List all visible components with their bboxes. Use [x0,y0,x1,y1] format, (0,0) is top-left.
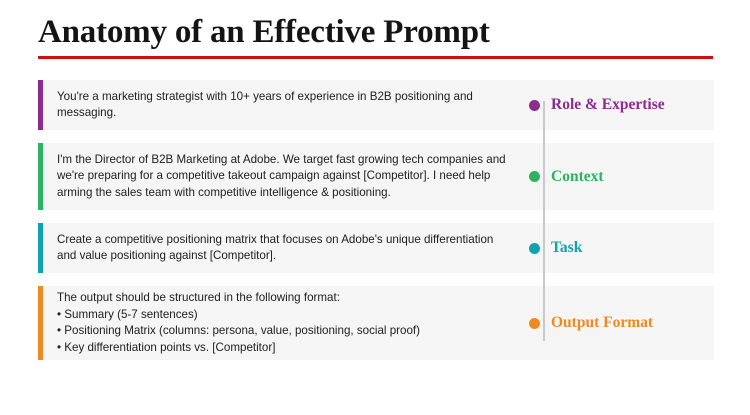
timeline-dot-icon-context [529,171,540,182]
prompt-bullet-item: • Summary (5-7 sentences) [57,307,517,324]
label-zone-task: Task [523,239,714,257]
prompt-line: messaging. [57,105,517,122]
prompt-line: I'm the Director of B2B Marketing at Ado… [57,152,517,169]
prompt-text-output-format: The output should be structured in the f… [43,290,523,356]
timeline-dot-icon-role [529,100,540,111]
prompt-bullet-item: • Positioning Matrix (columns: persona, … [57,323,517,340]
page-title: Anatomy of an Effective Prompt [38,12,714,52]
title-block: Anatomy of an Effective Prompt [38,12,714,59]
prompt-text-context: I'm the Director of B2B Marketing at Ado… [43,152,523,202]
prompt-row-context: I'm the Director of B2B Marketing at Ado… [38,143,714,210]
timeline-connector-line [543,101,545,341]
prompt-text-task: Create a competitive positioning matrix … [43,232,523,265]
slide-root: Anatomy of an Effective Prompt You're a … [0,0,750,415]
prompt-rows: You're a marketing strategist with 10+ y… [38,80,714,360]
prompt-line: Create a competitive positioning matrix … [57,232,517,249]
prompt-row-role: You're a marketing strategist with 10+ y… [38,80,714,130]
row-body-task: Create a competitive positioning matrix … [43,223,714,273]
label-zone-output-format: Output Format [523,314,714,332]
prompt-row-output-format: The output should be structured in the f… [38,286,714,360]
row-label-context: Context [551,168,604,186]
prompt-line: You're a marketing strategist with 10+ y… [57,89,517,106]
prompt-line: and value positioning against [Competito… [57,248,517,265]
prompt-line: we're preparing for a competitive takeou… [57,168,517,185]
row-body-role: You're a marketing strategist with 10+ y… [43,80,714,130]
row-label-task: Task [551,239,582,257]
row-label-role: Role & Expertise [551,96,665,114]
row-label-output-format: Output Format [551,314,653,332]
timeline-dot-icon-output-format [529,318,540,329]
prompt-row-task: Create a competitive positioning matrix … [38,223,714,273]
row-body-context: I'm the Director of B2B Marketing at Ado… [43,143,714,210]
row-body-output-format: The output should be structured in the f… [43,286,714,360]
prompt-text-role: You're a marketing strategist with 10+ y… [43,89,523,122]
label-zone-context: Context [523,168,714,186]
label-zone-role: Role & Expertise [523,96,714,114]
title-underline-rule [38,56,713,59]
prompt-bullet-item: • Key differentiation points vs. [Compet… [57,340,517,357]
timeline-dot-icon-task [529,243,540,254]
prompt-line: arming the sales team with competitive i… [57,185,517,202]
prompt-line: The output should be structured in the f… [57,290,517,307]
